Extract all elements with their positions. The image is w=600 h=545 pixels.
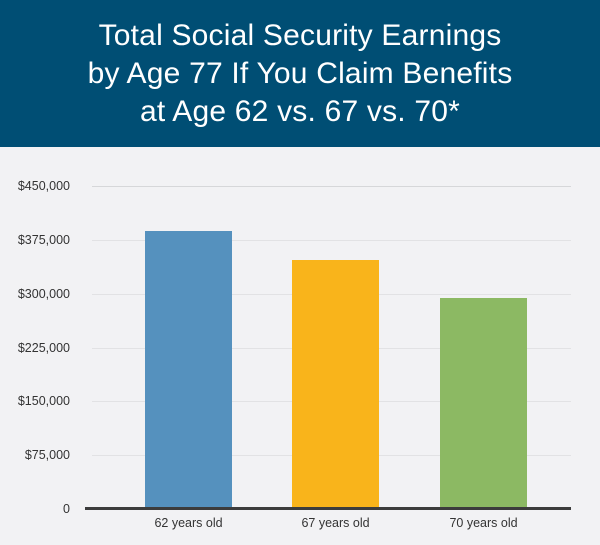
y-axis-tick-label: $450,000 [18, 179, 82, 193]
bar-fill [145, 231, 232, 509]
y-axis-tick-label: 0 [63, 502, 82, 516]
y-axis-tick-label: $375,000 [18, 233, 82, 247]
x-axis-line [85, 507, 571, 510]
page-title: Total Social Security Earnings by Age 77… [74, 17, 527, 131]
y-axis-tick-label: $225,000 [18, 341, 82, 355]
bar-3[interactable] [440, 298, 527, 509]
bar-fill [292, 260, 379, 509]
y-axis-labels: 0$75,000$150,000$225,000$300,000$375,000… [0, 147, 82, 545]
y-axis-tick-label: $300,000 [18, 287, 82, 301]
x-axis-tick-label: 70 years old [449, 516, 517, 530]
bar-2[interactable] [292, 260, 379, 509]
bar-series [92, 186, 571, 509]
chart-panel: 0$75,000$150,000$225,000$300,000$375,000… [0, 147, 600, 545]
plot-area [92, 186, 571, 509]
chart-page: Total Social Security Earnings by Age 77… [0, 0, 600, 545]
y-axis-tick-label: $150,000 [18, 394, 82, 408]
x-axis-labels: 62 years old67 years old70 years old [92, 516, 571, 536]
y-axis-tick-label: $75,000 [25, 448, 82, 462]
bar-1[interactable] [145, 231, 232, 509]
x-axis-tick-label: 62 years old [154, 516, 222, 530]
bar-fill [440, 298, 527, 509]
x-axis-tick-label: 67 years old [301, 516, 369, 530]
chart-header-banner: Total Social Security Earnings by Age 77… [0, 0, 600, 147]
